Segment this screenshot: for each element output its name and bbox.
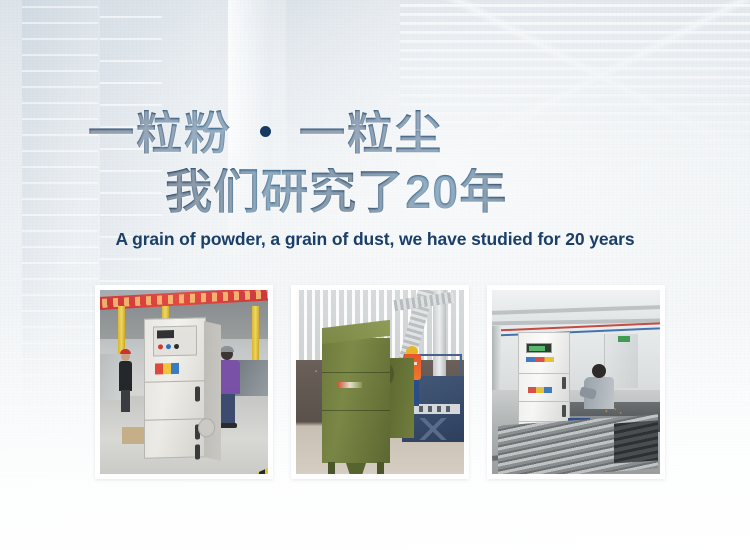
welding-sparks	[602, 406, 624, 416]
worker-cap	[220, 346, 234, 352]
brand-sticker	[155, 363, 179, 375]
control-knobs	[526, 357, 554, 362]
promotional-banner: 一粒粉 一粒尘 我们研究了20年 A grain of powder, a gr…	[0, 0, 750, 550]
worker-red-cap	[118, 352, 133, 412]
worker-legs	[121, 390, 130, 412]
unit-nameplate	[338, 382, 362, 388]
panel-button-red	[158, 344, 163, 349]
headline-part-powder: 一粒粉	[88, 110, 232, 156]
worker-head	[592, 364, 606, 378]
support-pole	[492, 326, 501, 396]
panel-button-blue	[166, 344, 171, 349]
worker-cap	[120, 349, 131, 354]
unit-seam-1	[322, 372, 390, 373]
headline-part-dust: 一粒尘	[299, 110, 443, 156]
unit-seam-2	[322, 410, 390, 411]
control-panel	[153, 325, 197, 356]
exit-sign-icon	[618, 336, 630, 342]
cabinet-seam-2	[519, 401, 569, 402]
headline-subtitle-english: A grain of powder, a grain of dust, we h…	[0, 229, 750, 250]
photo-frame-1	[95, 285, 273, 479]
cabinet-label	[528, 387, 552, 393]
photo-gallery	[95, 285, 665, 479]
unit-leg-right	[377, 462, 384, 474]
photo-green-dust-collector	[296, 290, 464, 474]
worker-legs	[219, 393, 235, 426]
worker-hard-hat	[406, 346, 418, 354]
control-display	[526, 343, 552, 353]
panel-display	[157, 330, 174, 338]
green-dust-collector-unit	[322, 338, 390, 463]
door-handle-3	[195, 444, 200, 459]
metal-tube-stack	[498, 414, 658, 474]
cabinet-handle-1	[562, 377, 566, 389]
cardboard-boxes	[122, 427, 146, 444]
lift-scissor-arms	[408, 418, 458, 440]
dust-collector-cabinet	[144, 317, 206, 459]
photo-frame-3	[487, 285, 665, 479]
unit-leg-left	[328, 462, 335, 474]
photo-workshop-white-cabinet	[492, 290, 660, 474]
worker-torso	[119, 361, 132, 391]
door-handle-1	[195, 386, 200, 401]
headline-line-1: 一粒粉 一粒尘	[88, 110, 443, 156]
inspection-porthole	[198, 418, 215, 437]
cabinet-handle-2	[562, 405, 566, 417]
photo-factory-grey-dust-collector	[100, 290, 268, 474]
cabinet-seam-1	[519, 373, 569, 374]
background-ceiling-beams	[400, 0, 750, 176]
panel-button-black	[174, 344, 179, 349]
bullet-separator-icon	[260, 126, 271, 137]
door-seam-1	[145, 380, 205, 382]
photo-frame-2	[291, 285, 469, 479]
blower-motor-housing	[388, 358, 414, 438]
door-seam-2	[145, 418, 205, 420]
headline-line-2: 我们研究了20年	[165, 168, 507, 215]
